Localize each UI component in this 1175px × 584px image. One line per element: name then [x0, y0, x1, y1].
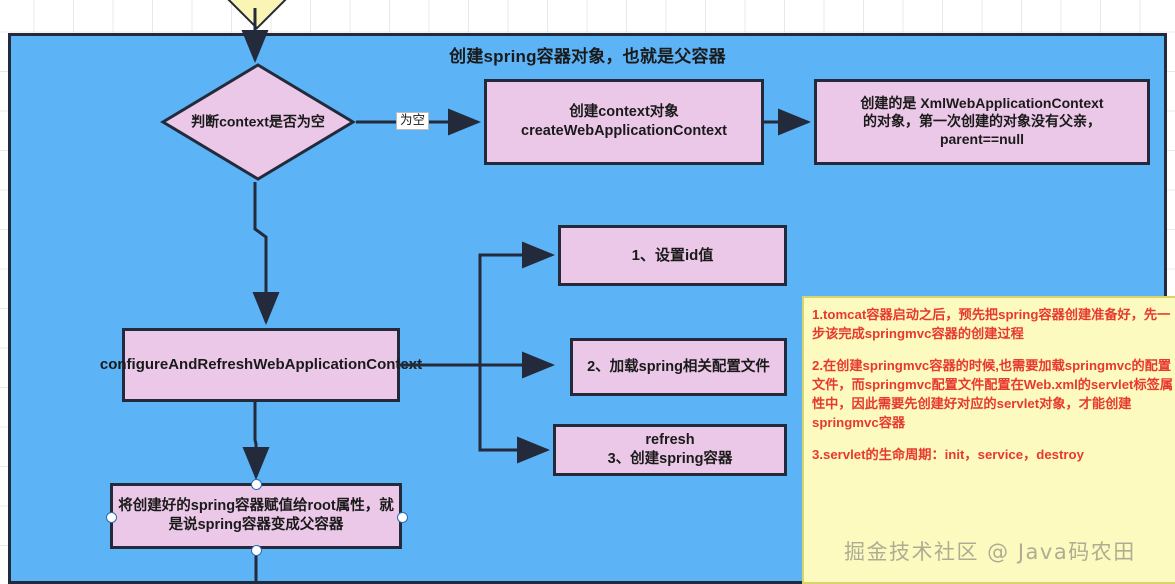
- node-assign-root-label: 将创建好的spring容器赋值给root属性，就是说spring容器变成父容器: [113, 497, 399, 534]
- note-item-1: 1.tomcat容器启动之后，预先把spring容器创建准备好，先一步该完成sp…: [812, 306, 1175, 343]
- selection-handle-left[interactable]: [106, 512, 117, 523]
- node-xml-context-line1: 创建的是 XmlWebApplicationContext: [860, 95, 1103, 113]
- note-item-2: 2.在创建springmvc容器的时候,也需要加载springmvc的配置文件，…: [812, 357, 1175, 432]
- watermark-text: 掘金技术社区 @ Java码农田: [844, 536, 1136, 566]
- node-decision-context[interactable]: 判断context是否为空: [160, 62, 356, 182]
- selection-handle-top[interactable]: [251, 479, 262, 490]
- node-create-context[interactable]: 创建context对象 createWebApplicationContext: [484, 79, 764, 165]
- node-step3-line2: 3、创建spring容器: [608, 450, 733, 469]
- node-configure-label: configureAndRefreshWebApplicationContext: [100, 355, 422, 374]
- node-configure-and-refresh[interactable]: configureAndRefreshWebApplicationContext: [122, 328, 400, 402]
- node-step-refresh[interactable]: refresh 3、创建spring容器: [553, 424, 787, 476]
- node-xml-context-line3: parent==null: [860, 131, 1103, 149]
- selection-handle-right[interactable]: [397, 512, 408, 523]
- node-step-set-id[interactable]: 1、设置id值: [558, 225, 787, 286]
- edge-label-empty[interactable]: 为空: [396, 112, 429, 130]
- selection-handle-bottom[interactable]: [251, 545, 262, 556]
- node-assign-root-container[interactable]: 将创建好的spring容器赋值给root属性，就是说spring容器变成父容器: [110, 483, 402, 549]
- annotation-note[interactable]: 1.tomcat容器启动之后，预先把spring容器创建准备好，先一步该完成sp…: [802, 296, 1175, 584]
- node-step1-label: 1、设置id值: [632, 246, 714, 265]
- node-step-load-config[interactable]: 2、加载spring相关配置文件: [570, 338, 787, 396]
- note-item-3: 3.servlet的生命周期：init，service，destroy: [812, 446, 1175, 465]
- decision-fragment-shape[interactable]: [224, 0, 289, 30]
- node-decision-context-label: 判断context是否为空: [168, 113, 348, 132]
- node-step2-label: 2、加载spring相关配置文件: [587, 358, 770, 377]
- node-create-context-line2: createWebApplicationContext: [521, 122, 727, 141]
- node-create-context-line1: 创建context对象: [521, 103, 727, 122]
- diagram-canvas[interactable]: 创建spring容器对象，也就是父容器 判断context是否为空: [0, 0, 1175, 584]
- node-xml-web-application-context[interactable]: 创建的是 XmlWebApplicationContext 的对象，第一次创建的…: [814, 79, 1150, 165]
- node-step3-line1: refresh: [608, 431, 733, 450]
- node-xml-context-line2: 的对象，第一次创建的对象没有父亲，: [860, 113, 1103, 131]
